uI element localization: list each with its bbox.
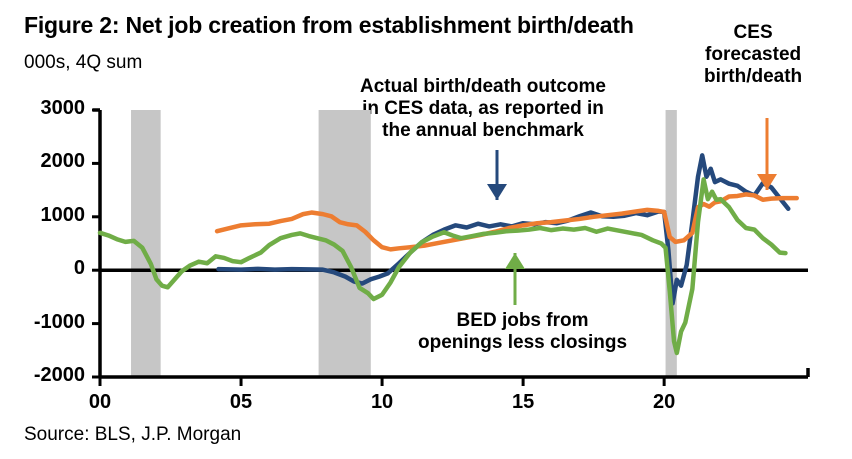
arrow-ces-actual-icon-head xyxy=(487,184,507,200)
arrow-ces-actual-icon xyxy=(487,150,507,200)
y-tick-label: 0 xyxy=(5,257,85,280)
series-line xyxy=(100,179,785,353)
x-tick-label: 00 xyxy=(70,391,130,414)
recession-band xyxy=(319,110,371,377)
x-tick-label: 15 xyxy=(493,391,553,414)
series-line xyxy=(217,194,797,249)
y-tick-label: 3000 xyxy=(5,97,85,120)
y-tick-label: 2000 xyxy=(5,150,85,173)
x-tick-label: 10 xyxy=(352,391,412,414)
y-tick-label: -1000 xyxy=(5,311,85,334)
x-tick-label: 20 xyxy=(634,391,694,414)
x-tick-label: 05 xyxy=(211,391,271,414)
chart-figure: Figure 2: Net job creation from establis… xyxy=(0,0,852,459)
arrow-ces-forecast-icon xyxy=(757,118,777,190)
y-tick-label: 1000 xyxy=(5,204,85,227)
arrow-bed-icon xyxy=(505,253,525,305)
y-tick-label: -2000 xyxy=(5,364,85,387)
arrow-bed-icon-head xyxy=(505,253,525,269)
